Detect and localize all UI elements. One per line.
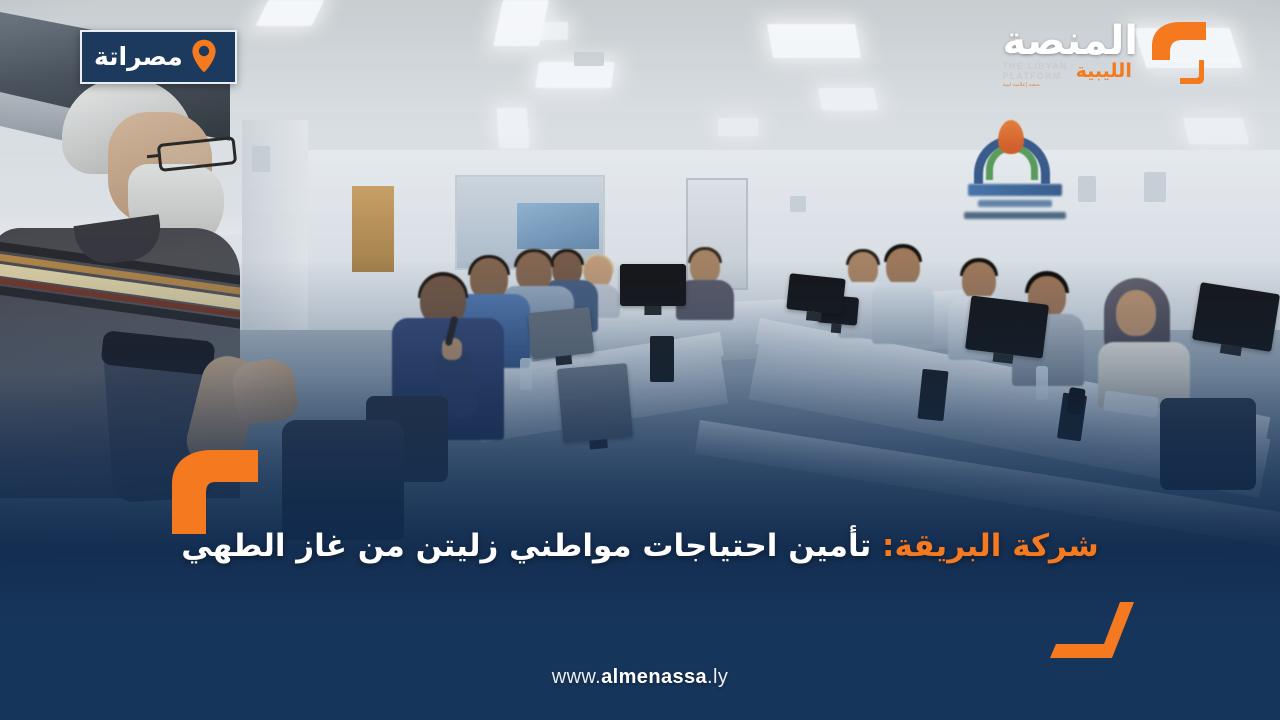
brand-wordmark: المنصة الليبية THE LIBYAN PLATFORM منصة … [1002,22,1138,89]
url-tld: .ly [707,666,728,688]
headline-accent: شركة البريقة: [882,528,1099,564]
decor-bracket-top-left-icon [166,448,262,534]
headline: شركة البريقة: تأمين احتياجات مواطني زليت… [60,524,1220,568]
brand-name-arabic: المنصة [1002,22,1138,60]
url-prefix: www. [552,666,601,688]
url-brand: almenassa [601,666,707,688]
decor-bracket-bottom-right-icon [1048,600,1136,662]
location-label: مصراتة [94,44,183,69]
brand-tagline: منصة إعلامية ليبية [1002,83,1039,88]
brand-name-english: THE LIBYAN PLATFORM [1002,61,1067,82]
brand-subtitle-row: الليبية THE LIBYAN PLATFORM [1002,61,1131,82]
headline-rest: تأمين احتياجات مواطني زليتن من غاز الطهي [181,528,882,564]
brand-name-arabic-secondary: الليبية [1076,62,1132,81]
brand-mark-icon [1144,16,1218,94]
brand-en-line2: PLATFORM [1002,71,1061,81]
brand-logo[interactable]: المنصة الليبية THE LIBYAN PLATFORM منصة … [1002,16,1218,94]
location-badge: مصراتة [80,30,237,84]
website-url[interactable]: www.almenassa.ly [0,666,1280,689]
news-card: مصراتة المنصة الليبية THE LIBYAN PLATFOR… [0,0,1280,720]
brand-en-line1: THE LIBYAN [1002,61,1067,71]
map-pin-icon [191,39,217,73]
